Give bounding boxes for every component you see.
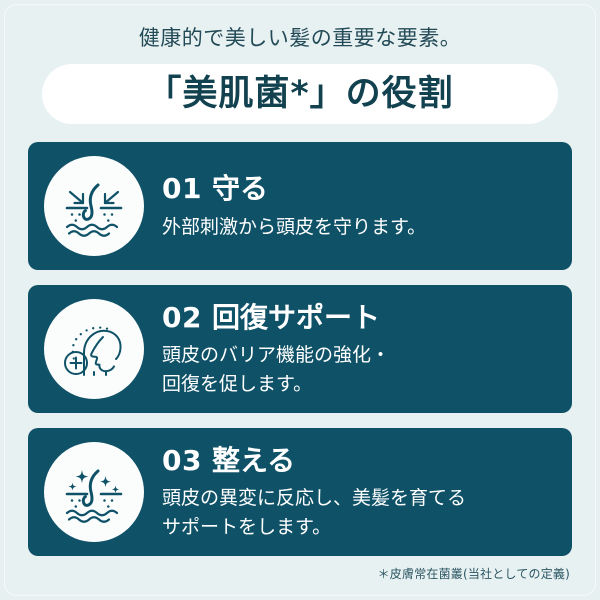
role-card-03-label: 整える <box>212 444 295 477</box>
role-card-list: 01守る 外部刺激から頭皮を守ります。 <box>0 142 600 556</box>
role-card-03: 03整える 頭皮の異変に反応し、美髪を育てる サポートをします。 <box>28 428 572 556</box>
role-card-03-heading: 03整える <box>162 445 556 477</box>
role-card-01-label: 守る <box>212 172 268 205</box>
footnote: ＊皮膚常在菌叢(当社としての定義) <box>0 565 570 582</box>
role-card-02-label: 回復サポート <box>212 301 380 334</box>
role-card-03-description-line-1: 頭皮の異変に反応し、美髪を育てる <box>162 484 556 513</box>
head-profile-plus-icon <box>44 299 144 399</box>
role-card-02-description-line-1: 頭皮のバリア機能の強化・ <box>162 341 556 370</box>
role-card-02-heading: 02回復サポート <box>162 302 556 334</box>
hair-follicle-sparkle-icon <box>44 442 144 542</box>
role-card-03-description: 頭皮の異変に反応し、美髪を育てる サポートをします。 <box>162 484 556 541</box>
poster-content: 健康的で美しい髪の重要な要素。 「美肌菌*」の役割 <box>0 0 600 582</box>
role-card-01-number: 01 <box>162 172 202 205</box>
role-card-01-heading: 01守る <box>162 173 556 205</box>
role-card-01-body: 01守る 外部刺激から頭皮を守ります。 <box>162 171 556 241</box>
role-card-03-number: 03 <box>162 444 202 477</box>
role-card-01: 01守る 外部刺激から頭皮を守ります。 <box>28 142 572 270</box>
role-card-02-description-line-2: 回復を促します。 <box>162 370 556 399</box>
subtitle: 健康的で美しい髪の重要な要素。 <box>0 0 600 51</box>
title-pill: 「美肌菌*」の役割 <box>42 64 558 124</box>
page-title: 「美肌菌*」の役割 <box>146 77 453 112</box>
role-card-02-body: 02回復サポート 頭皮のバリア機能の強化・ 回復を促します。 <box>162 300 556 398</box>
role-card-03-body: 03整える 頭皮の異変に反応し、美髪を育てる サポートをします。 <box>162 443 556 541</box>
title-pill-container: 「美肌菌*」の役割 <box>0 64 600 124</box>
role-card-02-number: 02 <box>162 301 202 334</box>
role-card-02: 02回復サポート 頭皮のバリア機能の強化・ 回復を促します。 <box>28 285 572 413</box>
role-card-02-description: 頭皮のバリア機能の強化・ 回復を促します。 <box>162 341 556 398</box>
role-card-03-description-line-2: サポートをします。 <box>162 513 556 542</box>
infographic-poster: 健康的で美しい髪の重要な要素。 「美肌菌*」の役割 <box>0 0 600 600</box>
role-card-01-description-line-1: 外部刺激から頭皮を守ります。 <box>162 213 556 242</box>
hair-follicle-shield-icon <box>44 156 144 256</box>
role-card-01-description: 外部刺激から頭皮を守ります。 <box>162 213 556 242</box>
